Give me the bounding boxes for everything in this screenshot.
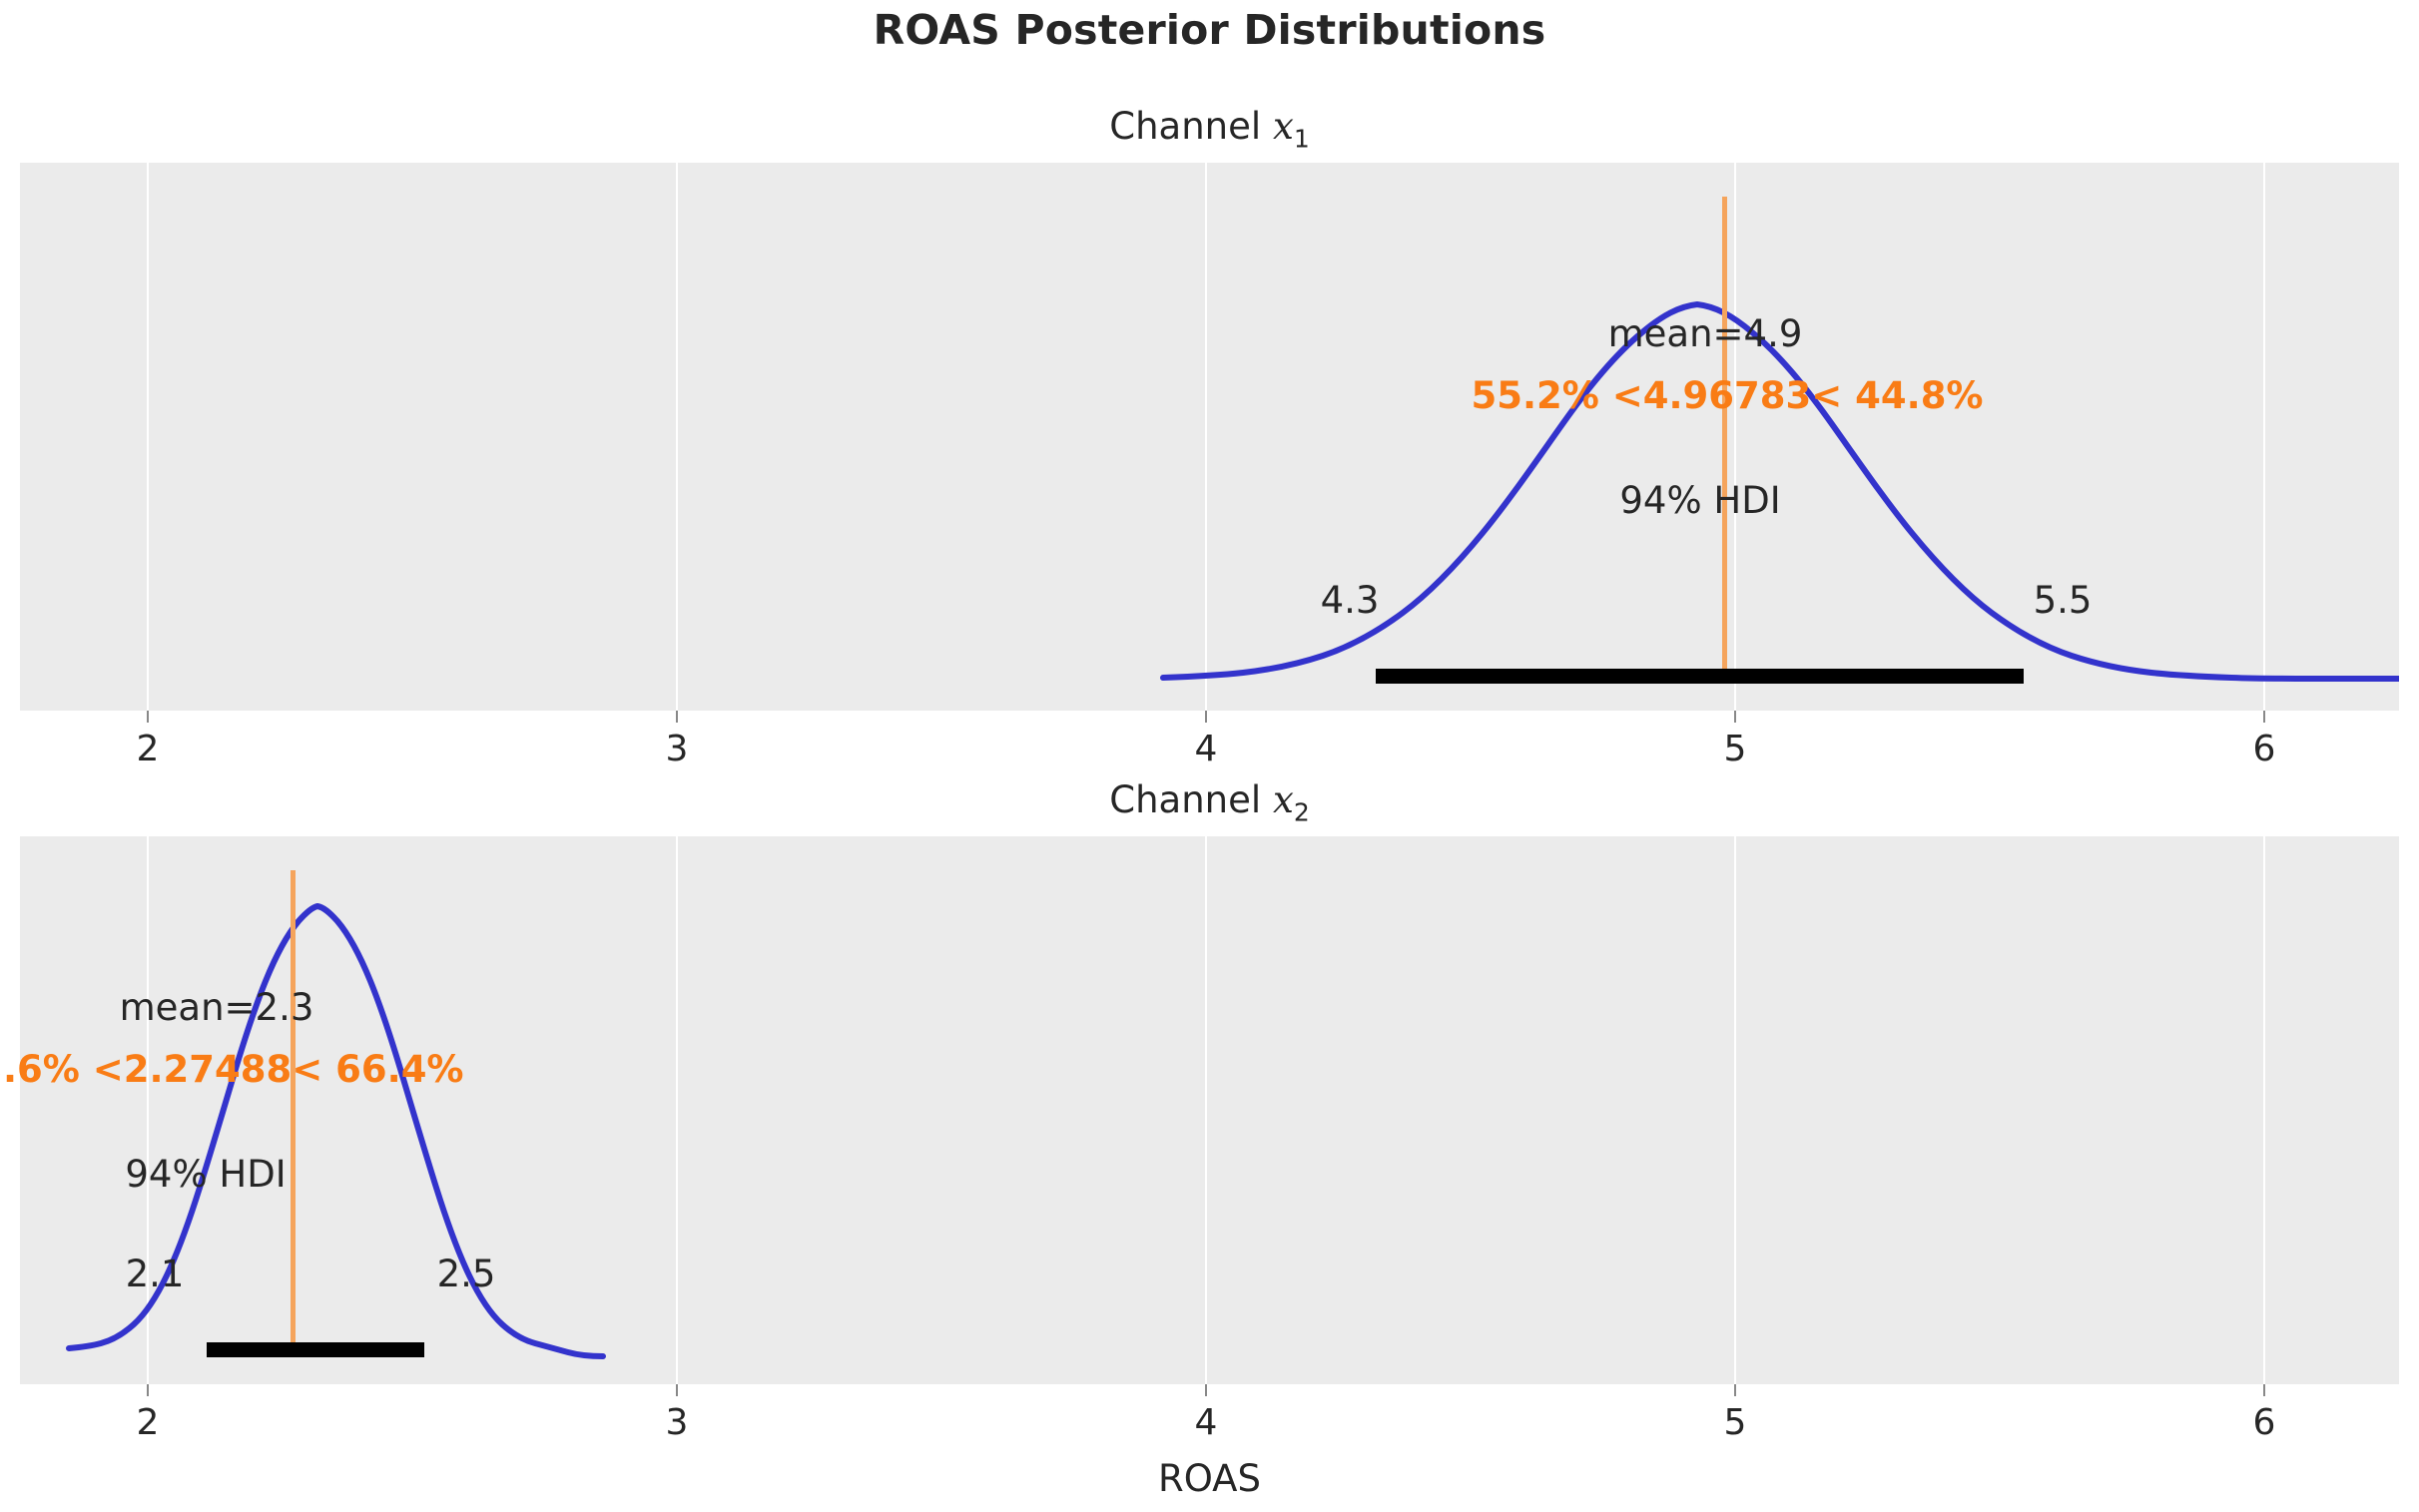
tick-p2-4 [1205,1384,1207,1396]
mean-label-channel-x1: mean=4.9 [1608,312,1803,355]
x-axis-label: ROAS [0,1457,2419,1500]
mean-label-channel-x2: mean=2.3 [120,986,314,1029]
ticklabel-p2-0: 2 [137,1402,160,1443]
subplot-title-channel-x2: Channel x2 [0,778,2419,826]
hdi-low-label-channel-x2: 2.1 [126,1253,185,1295]
subplot-title-sub-2: 2 [1294,797,1310,826]
hdi-high-label-channel-x1: 5.5 [2034,579,2093,622]
subplot-title-var-1: x [1273,105,1294,148]
ref-value-annotation-channel-x2: 33.6% <2.27488< 66.4% [0,1048,464,1091]
ticklabel-p2-2: 4 [1195,1402,1218,1443]
tick-p1-6 [2263,711,2265,723]
tick-p1-4 [1205,711,1207,723]
ticklabel-p1-2: 4 [1195,729,1218,769]
tick-p2-3 [676,1384,678,1396]
ticklabel-p2-3: 5 [1724,1402,1747,1443]
ticklabel-p1-3: 5 [1724,729,1747,769]
chart-figure: ROAS Posterior Distributions Channel x1 … [0,0,2419,1512]
panel1-clip [20,163,2399,711]
ref-value-annotation-channel-x1: 55.2% <4.96783< 44.8% [1471,374,1983,417]
hdi-bar-channel-x1 [1376,669,2024,684]
panel2-clip [20,836,2399,1384]
hdi-label-channel-x1: 94% HDI [1619,479,1780,522]
density-curve-channel-x2 [20,836,2399,1384]
tick-p2-6 [2263,1384,2265,1396]
ticklabel-p2-1: 3 [666,1402,689,1443]
subplot-title-var-2: x [1273,778,1294,821]
tick-p1-5 [1734,711,1736,723]
tick-p1-2 [147,711,149,723]
density-curve-channel-x1 [20,163,2399,711]
subplot-title-prefix-1: Channel [1109,105,1273,148]
subplot-title-prefix-2: Channel [1109,778,1273,821]
ref-line-channel-x1 [1722,197,1727,678]
subplot-title-channel-x1: Channel x1 [0,105,2419,153]
plot-area-channel-x1: mean=4.9 55.2% <4.96783< 44.8% 94% HDI 4… [20,163,2399,711]
subplot-title-sub-1: 1 [1294,124,1310,153]
plot-area-channel-x2: mean=2.3 33.6% <2.27488< 66.4% 94% HDI 2… [20,836,2399,1384]
page-title: ROAS Posterior Distributions [0,6,2419,54]
ticklabel-p1-1: 3 [666,729,689,769]
hdi-low-label-channel-x1: 4.3 [1321,579,1380,622]
hdi-high-label-channel-x2: 2.5 [437,1253,496,1295]
tick-p2-2 [147,1384,149,1396]
ticklabel-p1-0: 2 [137,729,160,769]
ref-line-channel-x2 [291,870,296,1351]
hdi-label-channel-x2: 94% HDI [125,1153,286,1196]
hdi-bar-channel-x2 [207,1342,424,1357]
tick-p2-5 [1734,1384,1736,1396]
ticklabel-p2-4: 6 [2253,1402,2276,1443]
tick-p1-3 [676,711,678,723]
ticklabel-p1-4: 6 [2253,729,2276,769]
